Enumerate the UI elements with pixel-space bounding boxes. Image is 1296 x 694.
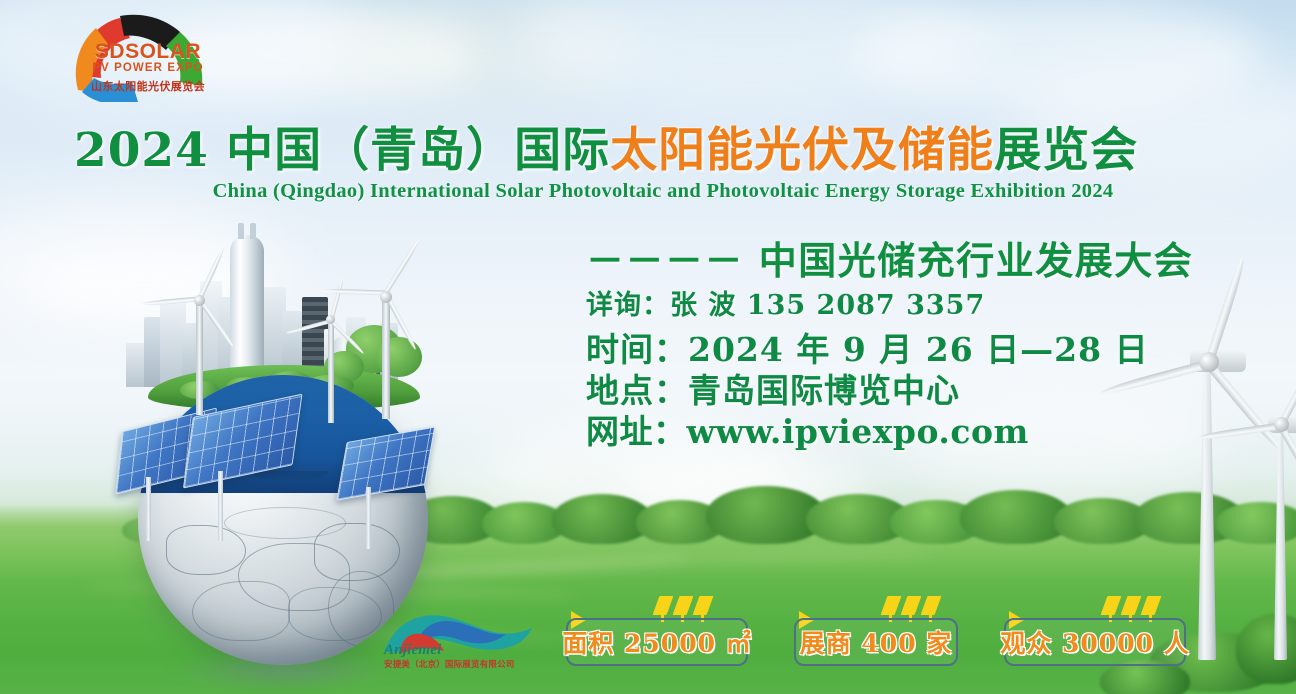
- partner-logo-english: Anjiemei: [384, 642, 441, 659]
- stat-badge-label: 观众 30000 人: [1000, 624, 1189, 660]
- earth-energy-illustration: [118, 225, 448, 610]
- page-title-english: China (Qingdao) International Solar Phot…: [68, 180, 1258, 203]
- logo-chinese-name: 山东太阳能光伏展览会: [68, 78, 228, 94]
- exhibition-banner: SDSOLAR PV POWER EXPO 山东太阳能光伏展览会 2024 中国…: [0, 0, 1296, 694]
- stat-badge-exhibitors: 展商 400 家: [794, 618, 958, 666]
- title-part-orange: 太阳能光伏及储能: [610, 123, 994, 178]
- event-info-block: 详询：张 波 135 2087 3357 时间：2024 年 9 月 26 日—…: [586, 292, 1146, 448]
- logo-name: SDSOLAR: [68, 40, 228, 64]
- solar-panel-leg: [218, 471, 223, 541]
- title-part-green-1: 2024 中国（青岛）国际: [74, 123, 610, 178]
- solar-panel-leg: [146, 477, 151, 541]
- stat-badge-label: 面积 25000 ㎡: [562, 624, 751, 660]
- sdsolar-logo[interactable]: SDSOLAR PV POWER EXPO 山东太阳能光伏展览会: [68, 12, 228, 102]
- stat-badge-area: 面积 25000 ㎡: [566, 618, 748, 666]
- stat-badge-visitors: 观众 30000 人: [1004, 618, 1186, 666]
- stat-badge-label: 展商 400 家: [800, 624, 953, 660]
- title-part-green-2: 展览会: [994, 123, 1138, 178]
- page-subtitle: －－－－ 中国光储充行业发展大会: [586, 230, 1193, 285]
- anjiemei-logo[interactable]: Anjiemei 安捷美（北京）国际展览有限公司: [382, 608, 534, 674]
- globe-wind-turbine: [346, 247, 442, 397]
- page-title: 2024 中国（青岛）国际太阳能光伏及储能展览会: [74, 127, 1254, 174]
- date-line: 时间：2024 年 9 月 26 日—28 日: [586, 333, 1146, 366]
- contact-line: 详询：张 波 135 2087 3357: [586, 292, 1146, 319]
- logo-subtitle: PV POWER EXPO: [68, 62, 228, 74]
- globe-shadow: [166, 650, 401, 692]
- wind-turbine-small: [1238, 368, 1296, 668]
- website-line[interactable]: 网址：www.ipviexpo.com: [586, 415, 1146, 448]
- venue-line: 地点：青岛国际博览中心: [586, 374, 1146, 407]
- solar-panel-leg: [366, 487, 371, 549]
- globe-wind-turbine: [166, 255, 256, 395]
- partner-logo-chinese: 安捷美（北京）国际展览有限公司: [384, 658, 515, 670]
